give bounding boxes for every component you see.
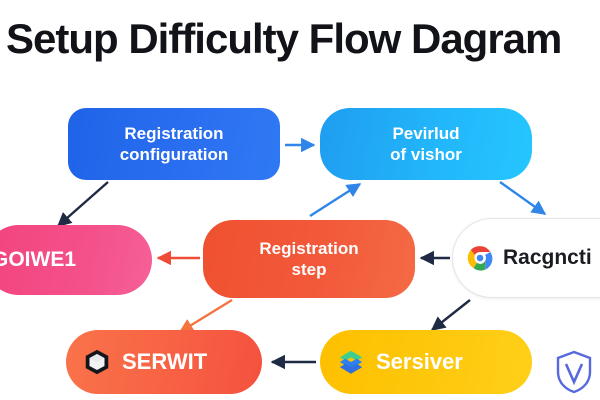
node-google1[interactable]: GOIWE1 (0, 225, 152, 295)
node-serviit[interactable]: SERWIT (66, 330, 262, 394)
connector-config-to-google (58, 182, 108, 226)
node-serisiver[interactable]: Sersiver (320, 330, 532, 394)
node-label: Sersiver (376, 348, 463, 376)
connector-step-to-serviit (180, 300, 232, 332)
connector-step-to-preview (310, 184, 360, 216)
cube-icon (82, 347, 112, 377)
node-label: GOIWE1 (0, 247, 76, 273)
node-label: Pevirlud of vishor (390, 123, 462, 166)
chrome-icon (467, 245, 493, 271)
connector-preview-to-recognition (500, 182, 545, 214)
diagram-canvas: Setup Difficulty Flow Dagram (0, 0, 600, 400)
node-label: Registration configuration (120, 123, 229, 166)
node-registration-step[interactable]: Registration step (203, 220, 415, 298)
shield-icon (554, 350, 594, 394)
connector-recognition-to-serisiver (432, 300, 470, 330)
node-recognition[interactable]: Racgncti (452, 218, 600, 298)
node-label: Registration step (259, 238, 358, 281)
node-label: SERWIT (122, 348, 207, 376)
node-label: Racgncti (503, 245, 592, 271)
node-registration-configuration[interactable]: Registration configuration (68, 108, 280, 180)
layers-icon (336, 347, 366, 377)
node-preview-load[interactable]: Pevirlud of vishor (320, 108, 532, 180)
page-title: Setup Difficulty Flow Dagram (6, 18, 600, 60)
